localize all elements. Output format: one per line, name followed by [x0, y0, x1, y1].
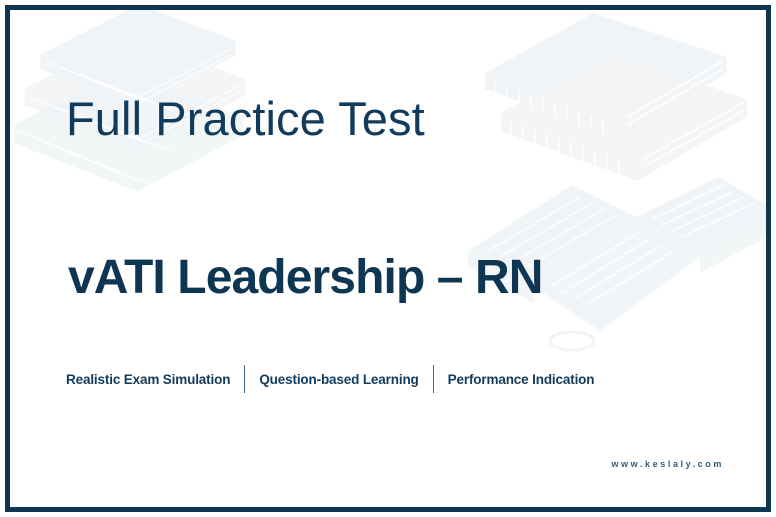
poster-card: Full Practice Test vATI Leadership – RN … [0, 0, 776, 517]
feature-list: Realistic Exam Simulation Question-based… [66, 368, 594, 390]
site-url: www.keslaly.com [611, 459, 724, 469]
feature-item-realistic-exam-simulation: Realistic Exam Simulation [66, 372, 230, 387]
eyebrow-text: Full Practice Test [66, 95, 425, 142]
poster-content: Full Practice Test vATI Leadership – RN … [0, 0, 776, 517]
feature-divider [433, 365, 434, 393]
feature-item-performance-indication: Performance Indication [448, 372, 595, 387]
page-title: vATI Leadership – RN [68, 254, 543, 302]
feature-item-question-based-learning: Question-based Learning [259, 372, 418, 387]
feature-divider [244, 365, 245, 393]
